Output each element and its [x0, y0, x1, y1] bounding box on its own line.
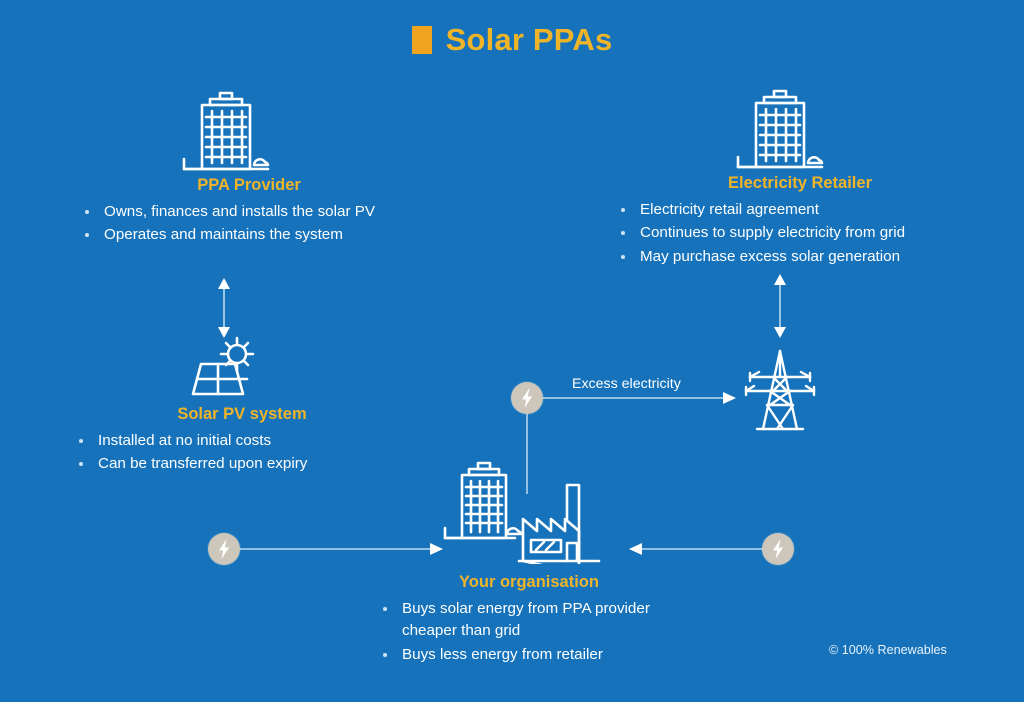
lightning-bolt-icon-excess-electricity [511, 382, 543, 414]
node-heading-ppa-provider: PPA Provider [76, 176, 406, 196]
bullet-list-ppa-provider: Owns, finances and installs the solar PV… [76, 201, 406, 247]
list-item: Continues to supply electricity from gri… [612, 222, 974, 245]
connector-organisation-to-grid-excess [520, 390, 740, 500]
node-heading-electricity-retailer: Electricity Retailer [612, 174, 974, 194]
node-heading-solar-pv-system: Solar PV system [70, 405, 400, 425]
office-building-icon-ppa-provider [176, 86, 276, 174]
list-item: Owns, finances and installs the solar PV [76, 201, 406, 224]
lightning-bolt-icon-solar-supply [208, 533, 240, 565]
list-item: Installed at no initial costs [70, 430, 400, 453]
list-item: May purchase excess solar generation [612, 246, 974, 269]
transmission-tower-icon [737, 347, 823, 433]
connector-grid-to-organisation [629, 538, 769, 560]
list-item: Buys less energy from retailer [374, 644, 674, 667]
bullet-list-your-organisation: Buys solar energy from PPA provider chea… [374, 598, 674, 667]
list-item: Buys solar energy from PPA provider chea… [374, 598, 674, 643]
copyright-footer: © 100% Renewables [829, 643, 947, 657]
lightning-bolt-icon-grid-supply [762, 533, 794, 565]
list-item: Operates and maintains the system [76, 224, 406, 247]
filled-square-icon [412, 26, 432, 54]
bullet-list-solar-pv-system: Installed at no initial costs Can be tra… [70, 430, 400, 476]
list-item: Electricity retail agreement [612, 199, 974, 222]
node-your-organisation: Your organisation Buys solar energy from… [374, 573, 674, 667]
slide-canvas: Solar PPAs [0, 0, 1024, 702]
title-text: Solar PPAs [446, 24, 613, 55]
connector-ppa-provider-to-solar-pv [204, 278, 244, 338]
solar-panel-sun-icon [181, 336, 267, 404]
list-item: Can be transferred upon expiry [70, 453, 400, 476]
office-building-icon-electricity-retailer [730, 84, 830, 172]
node-ppa-provider: PPA Provider Owns, finances and installs… [76, 176, 406, 248]
slide-title: Solar PPAs [0, 24, 1024, 59]
node-solar-pv-system: Solar PV system Installed at no initial … [70, 405, 400, 477]
bullet-list-electricity-retailer: Electricity retail agreement Continues t… [612, 199, 974, 269]
connector-solar-pv-to-organisation [238, 538, 443, 560]
connector-label-excess-electricity: Excess electricity [572, 376, 681, 392]
node-electricity-retailer: Electricity Retailer Electricity retail … [612, 174, 974, 269]
node-heading-your-organisation: Your organisation [374, 573, 674, 593]
connector-retailer-to-grid [760, 274, 800, 338]
